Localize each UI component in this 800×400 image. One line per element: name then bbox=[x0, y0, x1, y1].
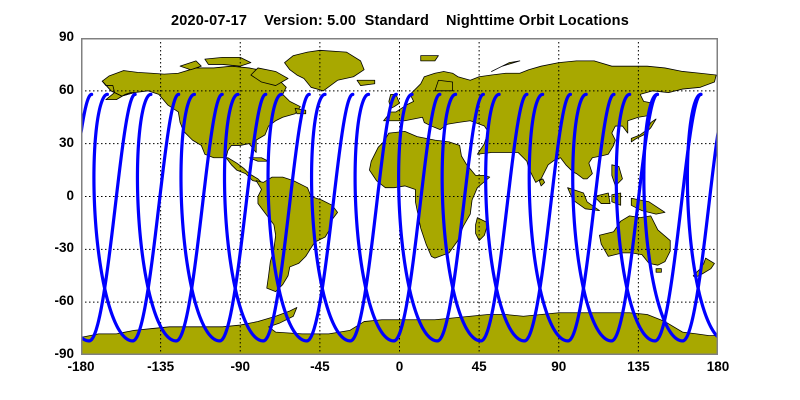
x-tick--90: -90 bbox=[210, 359, 270, 374]
orbit-map-figure: 2020-07-17 Version: 5.00 Standard Nightt… bbox=[0, 0, 800, 400]
plot-area bbox=[81, 38, 718, 355]
map-svg bbox=[81, 38, 718, 355]
y-tick-90: 90 bbox=[34, 29, 74, 44]
x-tick-45: 45 bbox=[449, 359, 509, 374]
landmass-tasmania bbox=[656, 269, 661, 273]
x-tick-135: 135 bbox=[608, 359, 668, 374]
y-tick-30: 30 bbox=[34, 135, 74, 150]
y-tick--30: -30 bbox=[34, 240, 74, 255]
landmass-scandinavia-sea bbox=[435, 80, 453, 91]
page-title: 2020-07-17 Version: 5.00 Standard Nightt… bbox=[0, 13, 800, 29]
y-tick--60: -60 bbox=[34, 293, 74, 308]
x-tick-0: 0 bbox=[370, 359, 430, 374]
landmass-svalbard bbox=[421, 56, 439, 61]
x-tick-90: 90 bbox=[529, 359, 589, 374]
x-tick-180: 180 bbox=[688, 359, 748, 374]
x-tick--180: -180 bbox=[51, 359, 111, 374]
x-tick--135: -135 bbox=[131, 359, 191, 374]
y-tick-60: 60 bbox=[34, 82, 74, 97]
y-tick-0: 0 bbox=[34, 188, 74, 203]
x-tick--45: -45 bbox=[290, 359, 350, 374]
